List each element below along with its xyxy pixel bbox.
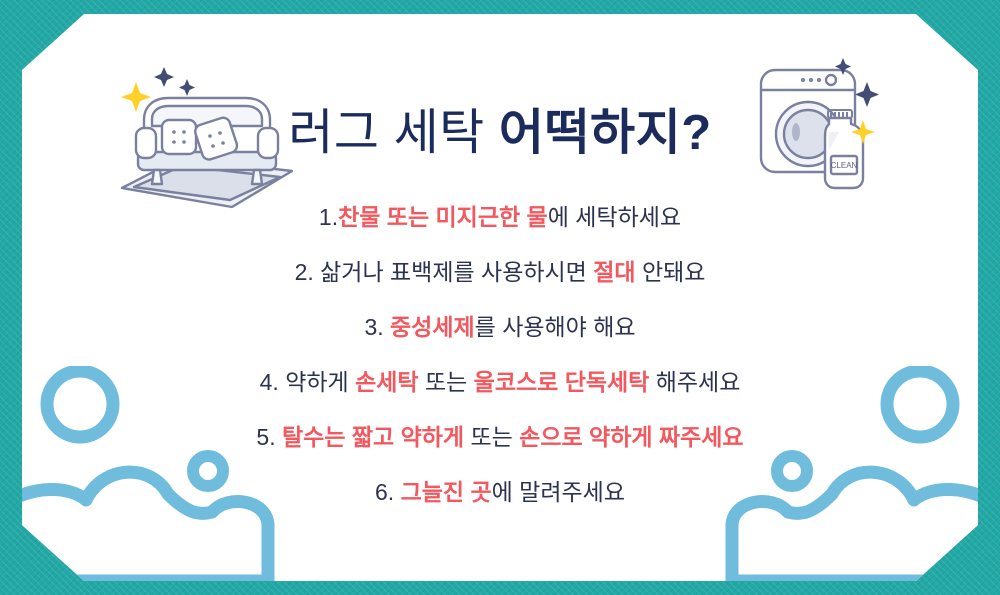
sofa-leg-right bbox=[252, 170, 262, 184]
instruction-text: 안돼요 bbox=[636, 259, 706, 285]
instruction-line: 6. 그늘진 곳에 말려주세요 bbox=[0, 465, 1000, 520]
instruction-highlight: 탈수는 짧고 약하게 bbox=[282, 424, 464, 450]
instruction-line: 1.찬물 또는 미지근한 물에 세탁하세요 bbox=[0, 190, 1000, 245]
page-title: 러그 세탁 어떡하지? bbox=[0, 107, 1000, 161]
instruction-number: 1. bbox=[319, 204, 338, 230]
instruction-highlight: 찬물 또는 미지근한 물 bbox=[338, 204, 548, 230]
instruction-text: 약하게 bbox=[279, 369, 355, 395]
washer-indicator-lights bbox=[801, 78, 821, 82]
instruction-number: 4. bbox=[260, 369, 279, 395]
instruction-highlight: 중성세제 bbox=[390, 314, 475, 340]
instruction-text: 해주세요 bbox=[649, 369, 740, 395]
poster-root: CLEAN 러그 세탁 어떡하지? 1.찬물 또는 미지근한 물에 세탁하세요2… bbox=[0, 0, 1000, 595]
instruction-text: 삶거나 표백제를 사용하시면 bbox=[314, 259, 593, 285]
page-title-bold: 어떡하지? bbox=[499, 106, 712, 160]
sparkle-navy-icon bbox=[154, 67, 174, 87]
instruction-line: 2. 삶거나 표백제를 사용하시면 절대 안돼요 bbox=[0, 245, 1000, 300]
page-title-plain: 러그 세탁 bbox=[288, 106, 499, 160]
instruction-text: 에 세탁하세요 bbox=[548, 204, 681, 230]
instruction-highlight: 절대 bbox=[593, 259, 635, 285]
instruction-highlight: 울코스로 단독세탁 bbox=[474, 369, 650, 395]
instruction-text: 를 사용해야 해요 bbox=[475, 314, 636, 340]
instruction-text: 또는 bbox=[419, 369, 474, 395]
detergent-bottle-label-text: CLEAN bbox=[831, 161, 858, 170]
instruction-highlight: 손으로 약하게 짜주세요 bbox=[519, 424, 743, 450]
sofa-leg-left bbox=[152, 170, 162, 184]
sparkle-navy-icon bbox=[179, 79, 195, 96]
instruction-text: 에 말려주세요 bbox=[492, 479, 625, 505]
instruction-number: 6. bbox=[375, 479, 394, 505]
instruction-highlight: 그늘진 곳 bbox=[401, 479, 492, 505]
instruction-line: 4. 약하게 손세탁 또는 울코스로 단독세탁 해주세요 bbox=[0, 355, 1000, 410]
instruction-line: 3. 중성세제를 사용해야 해요 bbox=[0, 300, 1000, 355]
instruction-number: 5. bbox=[256, 424, 275, 450]
instruction-number: 3. bbox=[364, 314, 383, 340]
instruction-text: 또는 bbox=[464, 424, 519, 450]
instruction-highlight: 손세탁 bbox=[355, 369, 418, 395]
washer-dial bbox=[826, 75, 836, 85]
instruction-number: 2. bbox=[295, 259, 314, 285]
instruction-list: 1.찬물 또는 미지근한 물에 세탁하세요2. 삶거나 표백제를 사용하시면 절… bbox=[0, 190, 1000, 520]
instruction-line: 5. 탈수는 짧고 약하게 또는 손으로 약하게 짜주세요 bbox=[0, 410, 1000, 465]
sparkle-navy-icon bbox=[855, 82, 879, 107]
